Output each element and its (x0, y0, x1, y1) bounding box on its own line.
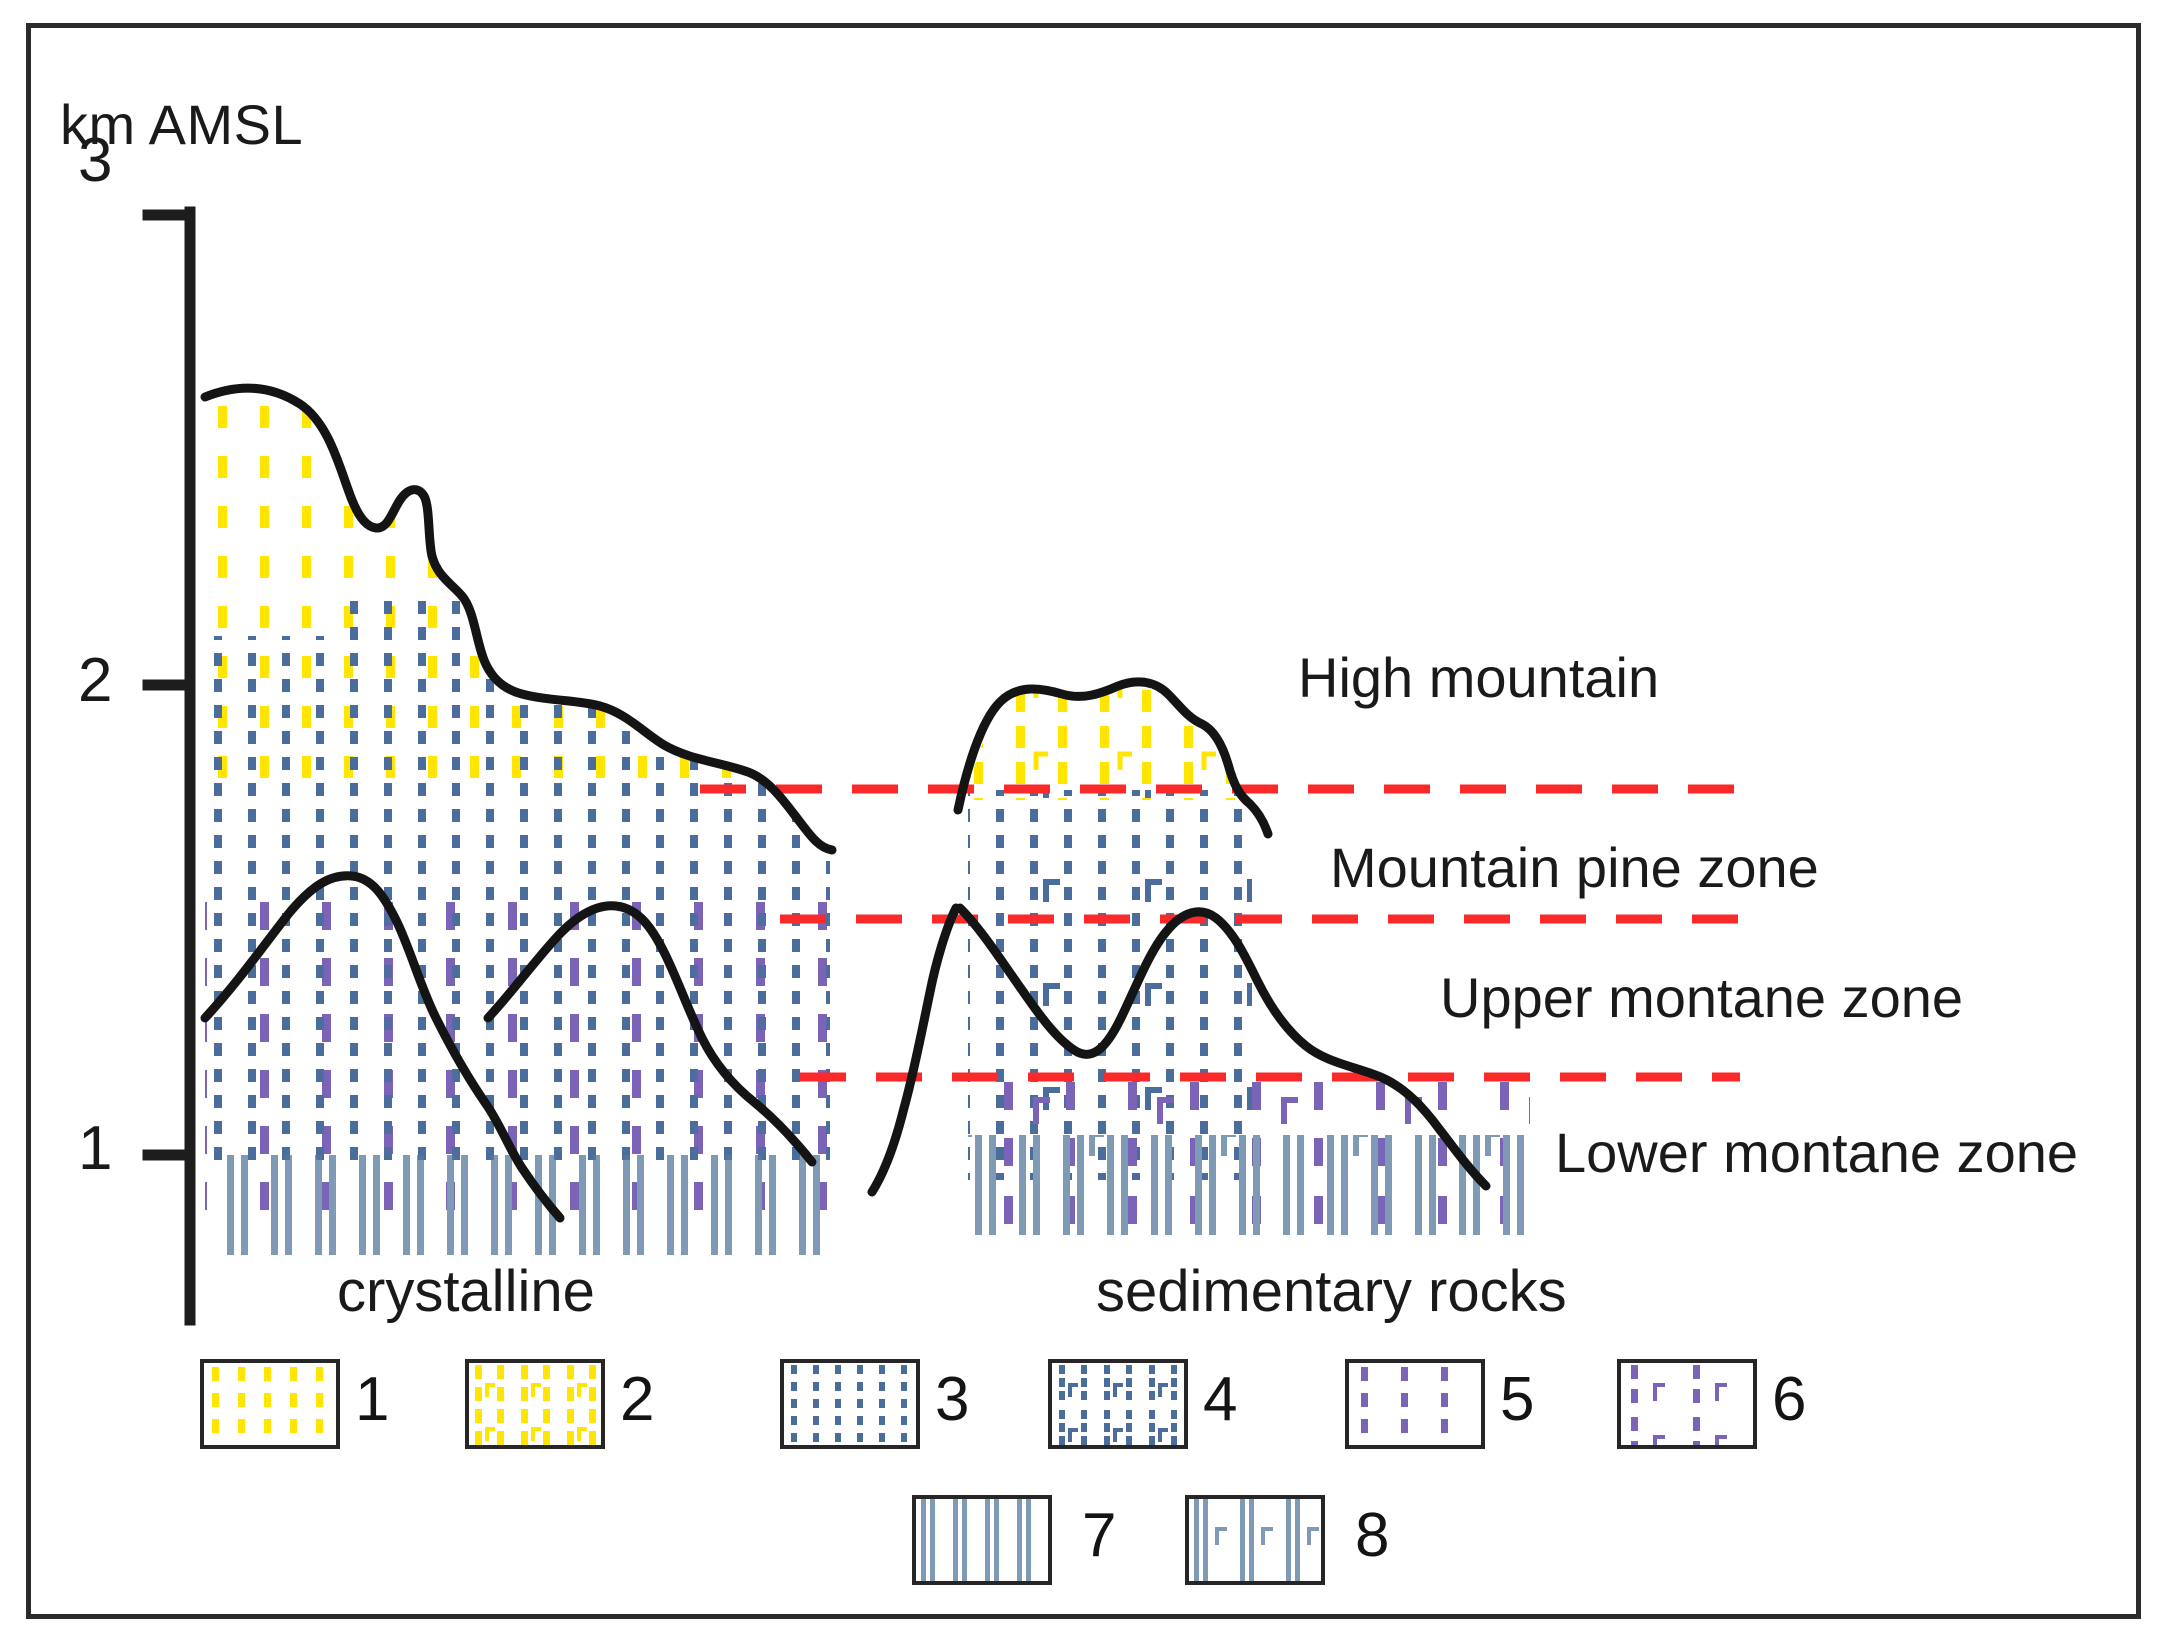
legend-swatch-6 (1617, 1359, 1757, 1449)
y-tick-label-2: 2 (78, 645, 112, 716)
left-blue-extra (200, 600, 840, 1160)
legend-label-7: 7 (1082, 1500, 1116, 1571)
bedrock-label-crystalline: crystalline (337, 1258, 595, 1325)
legend-swatch-3 (780, 1359, 920, 1449)
legend-label-1: 1 (355, 1364, 389, 1435)
legend-label-5: 5 (1500, 1364, 1534, 1435)
legend-label-4: 4 (1203, 1364, 1237, 1435)
legend-swatch-1 (200, 1359, 340, 1449)
zone-label-mountain-pine: Mountain pine zone (1330, 835, 1819, 900)
zone-label-high-mountain: High mountain (1298, 645, 1659, 710)
figure-canvas: km AMSL 3 2 1 High mountain Mountain pin… (0, 0, 2169, 1650)
legend-label-3: 3 (935, 1364, 969, 1435)
right-lower-flank (872, 908, 956, 1192)
legend-swatch-2 (465, 1359, 605, 1449)
legend-label-2: 2 (620, 1364, 654, 1435)
zone-label-lower-montane: Lower montane zone (1555, 1120, 2078, 1185)
legend-label-8: 8 (1355, 1500, 1389, 1571)
legend-swatch-7 (912, 1495, 1052, 1585)
legend-swatch-5 (1345, 1359, 1485, 1449)
y-axis (148, 212, 190, 1320)
y-tick-label-1: 1 (78, 1113, 112, 1184)
legend-swatch-4 (1048, 1359, 1188, 1449)
zone-label-upper-montane: Upper montane zone (1440, 965, 1963, 1030)
legend-label-6: 6 (1772, 1364, 1806, 1435)
y-tick-label-3: 3 (78, 125, 112, 196)
legend-swatch-8 (1185, 1495, 1325, 1585)
bedrock-label-sedimentary: sedimentary rocks (1096, 1258, 1567, 1325)
